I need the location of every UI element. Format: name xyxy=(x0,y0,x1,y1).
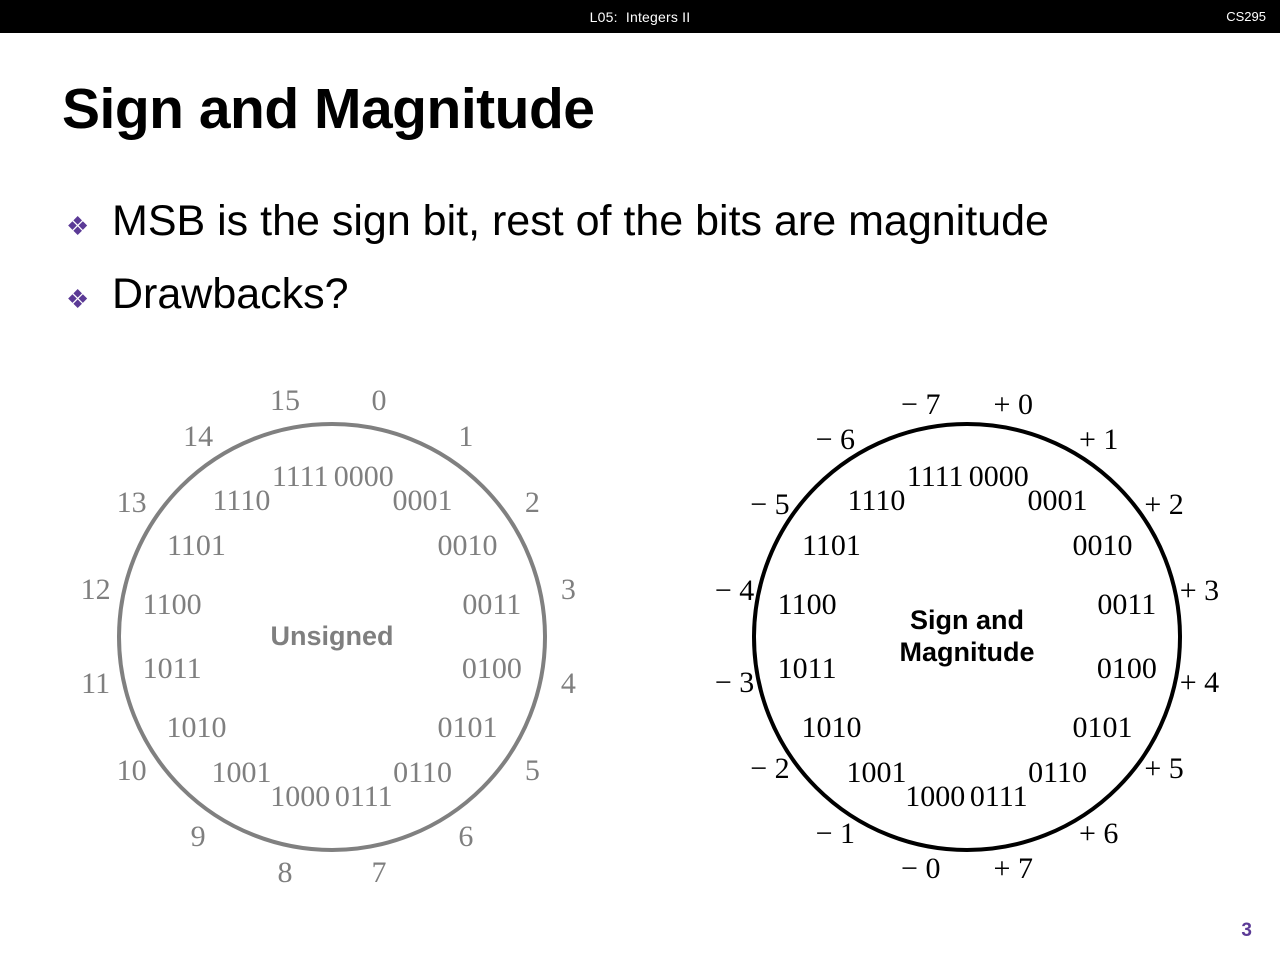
sign-magnitude-circle-code-1111: 1111 xyxy=(907,462,964,492)
sign-magnitude-circle-value-14: − 6 xyxy=(816,425,855,455)
sign-magnitude-circle-code-0000: 0000 xyxy=(969,462,1029,492)
sign-magnitude-circle-value-8: − 0 xyxy=(901,854,940,884)
sign-magnitude-circle-code-1101: 1101 xyxy=(802,531,861,561)
sign-magnitude-circle-code-1000: 1000 xyxy=(905,782,965,812)
sign-magnitude-circle-code-0011: 0011 xyxy=(1097,590,1156,620)
sign-magnitude-circle-code-1010: 1010 xyxy=(801,713,861,743)
sign-magnitude-circle-value-12: − 4 xyxy=(715,576,754,606)
sign-magnitude-circle-value-15: − 7 xyxy=(901,390,940,420)
sign-magnitude-circle-value-2: + 2 xyxy=(1144,490,1183,520)
sign-magnitude-circle-value-10: − 2 xyxy=(750,754,789,784)
sign-magnitude-circle-value-13: − 5 xyxy=(750,490,789,520)
sign-magnitude-circle-value-1: + 1 xyxy=(1079,425,1118,455)
sign-magnitude-circle-code-0111: 0111 xyxy=(970,782,1028,812)
sign-magnitude-circle-value-9: − 1 xyxy=(816,819,855,849)
sign-magnitude-circle-value-11: − 3 xyxy=(715,668,754,698)
sign-magnitude-circle-code-1001: 1001 xyxy=(846,758,906,788)
slide-page-number: 3 xyxy=(1241,920,1252,942)
sign-magnitude-circle-code-0110: 0110 xyxy=(1028,758,1087,788)
sign-magnitude-circle-value-5: + 5 xyxy=(1144,754,1183,784)
sign-magnitude-circle-value-0: + 0 xyxy=(994,390,1033,420)
sign-magnitude-circle-value-4: + 4 xyxy=(1180,668,1219,698)
sign-magnitude-circle-value-6: + 6 xyxy=(1079,819,1118,849)
sign-magnitude-circle-code-0100: 0100 xyxy=(1097,654,1157,684)
sign-magnitude-circle-code-1011: 1011 xyxy=(778,654,837,684)
sign-magnitude-circle-value-7: + 7 xyxy=(994,854,1033,884)
sign-magnitude-circle-code-1110: 1110 xyxy=(848,486,906,516)
sign-magnitude-circle-code-0101: 0101 xyxy=(1073,713,1133,743)
sign-magnitude-circle-code-0001: 0001 xyxy=(1028,486,1088,516)
sign-magnitude-circle-value-3: + 3 xyxy=(1180,576,1219,606)
sign-magnitude-circle-code-0010: 0010 xyxy=(1073,531,1133,561)
sign-magnitude-circle-code-1100: 1100 xyxy=(778,590,837,620)
sign-magnitude-circle-center-label: Sign and Magnitude xyxy=(900,605,1035,669)
sign-magnitude-circle-diagram: 0000+ 00001+ 10010+ 20011+ 30100+ 40101+… xyxy=(0,0,1280,960)
